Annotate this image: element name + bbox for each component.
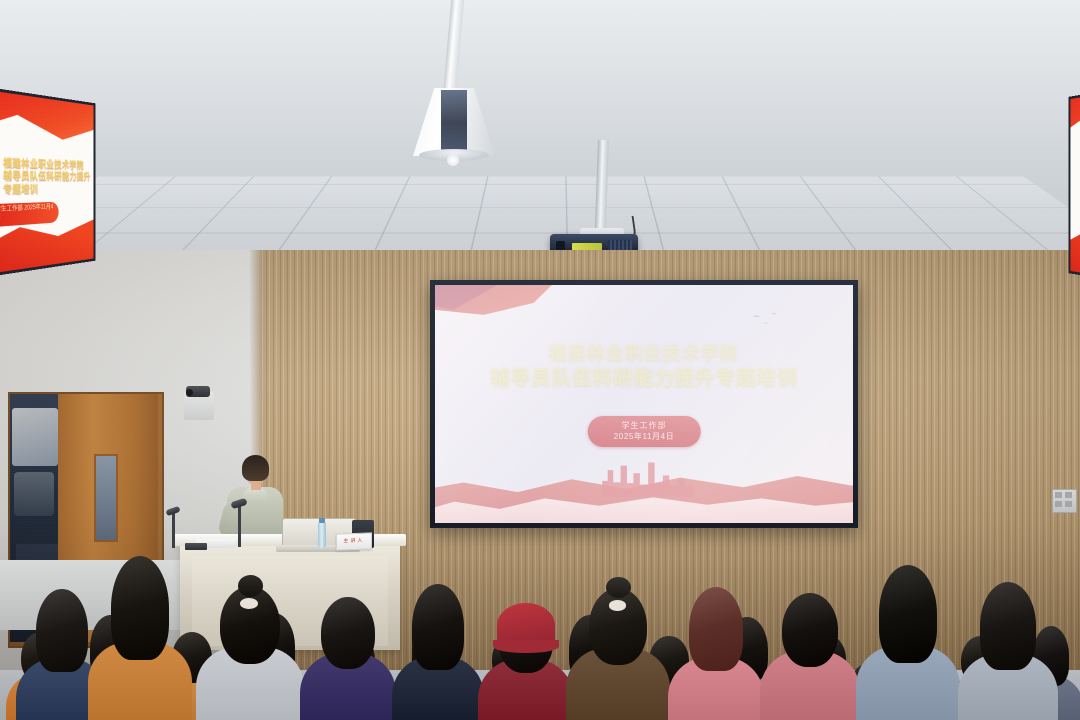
audience-member (300, 592, 396, 720)
outside-view-object (14, 472, 54, 516)
audience-member (478, 602, 574, 720)
speaker-hair (242, 455, 269, 481)
audience-member-head (689, 587, 743, 672)
slide-title-block: 福建林业职业技术学院 辅导员队伍科研能力提升专题培训 (435, 342, 853, 392)
audience-member (392, 596, 484, 720)
audience-member-head (321, 597, 375, 669)
led-banner-left: 福建林业职业技术学院 辅导员队伍科研能力提升专题培训 学生工作部 2025年11… (0, 88, 95, 276)
audience-member (760, 588, 860, 720)
audience-member-head (980, 582, 1036, 669)
audience-member-head (36, 589, 88, 672)
slide-title-line2: 辅导员队伍科研能力提升专题培训 (435, 366, 853, 392)
audience-member-head (111, 556, 169, 660)
audience-member-head (782, 593, 838, 667)
audience-member (566, 582, 670, 720)
lamp-bulb (447, 154, 459, 166)
audience-member (856, 578, 960, 720)
main-display-bezel: ∼∼∼ 福建林业职业技术学院 辅导员队伍科研能力提升专题培训 学生工作部 202… (430, 280, 858, 528)
led-banner-right (1069, 82, 1080, 288)
audience-member (196, 580, 304, 720)
slide-birds-decoration: ∼∼∼ (753, 311, 820, 335)
audience-member-hair-bun (238, 575, 263, 597)
lecture-hall-photo: 福建林业职业技术学院 辅导员队伍科研能力提升专题培训 学生工作部 2025年11… (0, 0, 1080, 720)
pendant-light-fixture (405, 0, 501, 168)
outside-view-sky (12, 408, 58, 466)
audience-member (668, 598, 764, 720)
audience-member-head (412, 584, 464, 670)
presentation-slide: ∼∼∼ 福建林业职业技术学院 辅导员队伍科研能力提升专题培训 学生工作部 202… (435, 285, 853, 523)
audience-member-cap-brim (493, 640, 559, 653)
slide-title-line1: 福建林业职业技术学院 (435, 342, 853, 365)
slide-badge-date: 2025年11月4日 (614, 432, 675, 443)
lamp-rod (442, 0, 464, 100)
audience-member (88, 570, 192, 720)
audience-member (958, 594, 1058, 720)
slide-badge-department: 学生工作部 (614, 421, 675, 432)
audience-member-head (589, 588, 647, 665)
banner-left-title: 福建林业职业技术学院 辅导员队伍科研能力提升专题培训 (3, 157, 92, 198)
audience-member-head (879, 565, 937, 664)
audience-member-hair-tie (609, 600, 626, 610)
slide-badge: 学生工作部 2025年11月4日 (588, 416, 701, 448)
lamp-inner-reflection (441, 90, 467, 150)
audience (0, 520, 1080, 720)
wall-switch-plate[interactable] (1052, 489, 1077, 513)
camera-lens-icon (186, 389, 193, 396)
